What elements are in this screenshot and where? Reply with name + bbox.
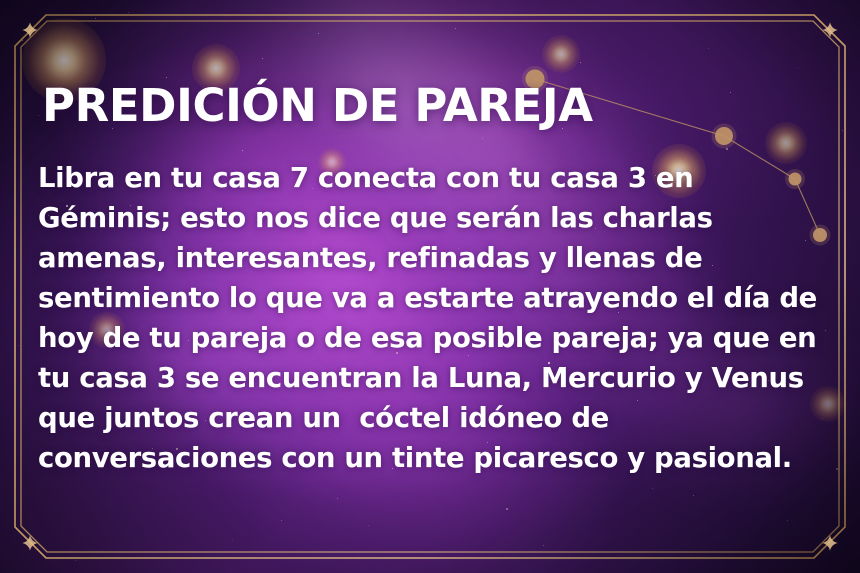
sparkle-icon: [23, 536, 38, 551]
glow-star-3: [542, 35, 580, 73]
prediction-line: amenas, interesantes, refinadas y llenas…: [38, 238, 832, 278]
prediction-card: PREDICIÓN DE PAREJA Libra en tu casa 7 c…: [0, 0, 860, 573]
corner-sparkle-bottom-right: [823, 536, 838, 551]
corner-sparkle-top-right: [823, 23, 838, 38]
prediction-line: sentimiento lo que va a estarte atrayend…: [38, 278, 832, 318]
sparkle-icon: [823, 536, 838, 551]
prediction-line: hoy de tu pareja o de esa posible pareja…: [38, 318, 832, 358]
corner-sparkle-bottom-left: [23, 536, 38, 551]
corner-sparkle-top-left: [23, 23, 38, 38]
prediction-line: que juntos crean un cóctel idóneo de: [38, 398, 832, 438]
prediction-line: tu casa 3 se encuentran la Luna, Mercuri…: [38, 358, 832, 398]
prediction-line: conversaciones con un tinte picaresco y …: [38, 438, 832, 478]
prediction-body-text: Libra en tu casa 7 conecta con tu casa 3…: [38, 158, 832, 478]
starfield-bright: [0, 0, 2, 2]
sparkle-icon: [23, 23, 38, 38]
prediction-line: Libra en tu casa 7 conecta con tu casa 3…: [38, 158, 832, 198]
prediction-line: Géminis; esto nos dice que serán las cha…: [38, 198, 832, 238]
sparkle-icon: [823, 23, 838, 38]
page-title: PREDICIÓN DE PAREJA: [42, 82, 832, 130]
card-content: PREDICIÓN DE PAREJA Libra en tu casa 7 c…: [42, 82, 832, 478]
